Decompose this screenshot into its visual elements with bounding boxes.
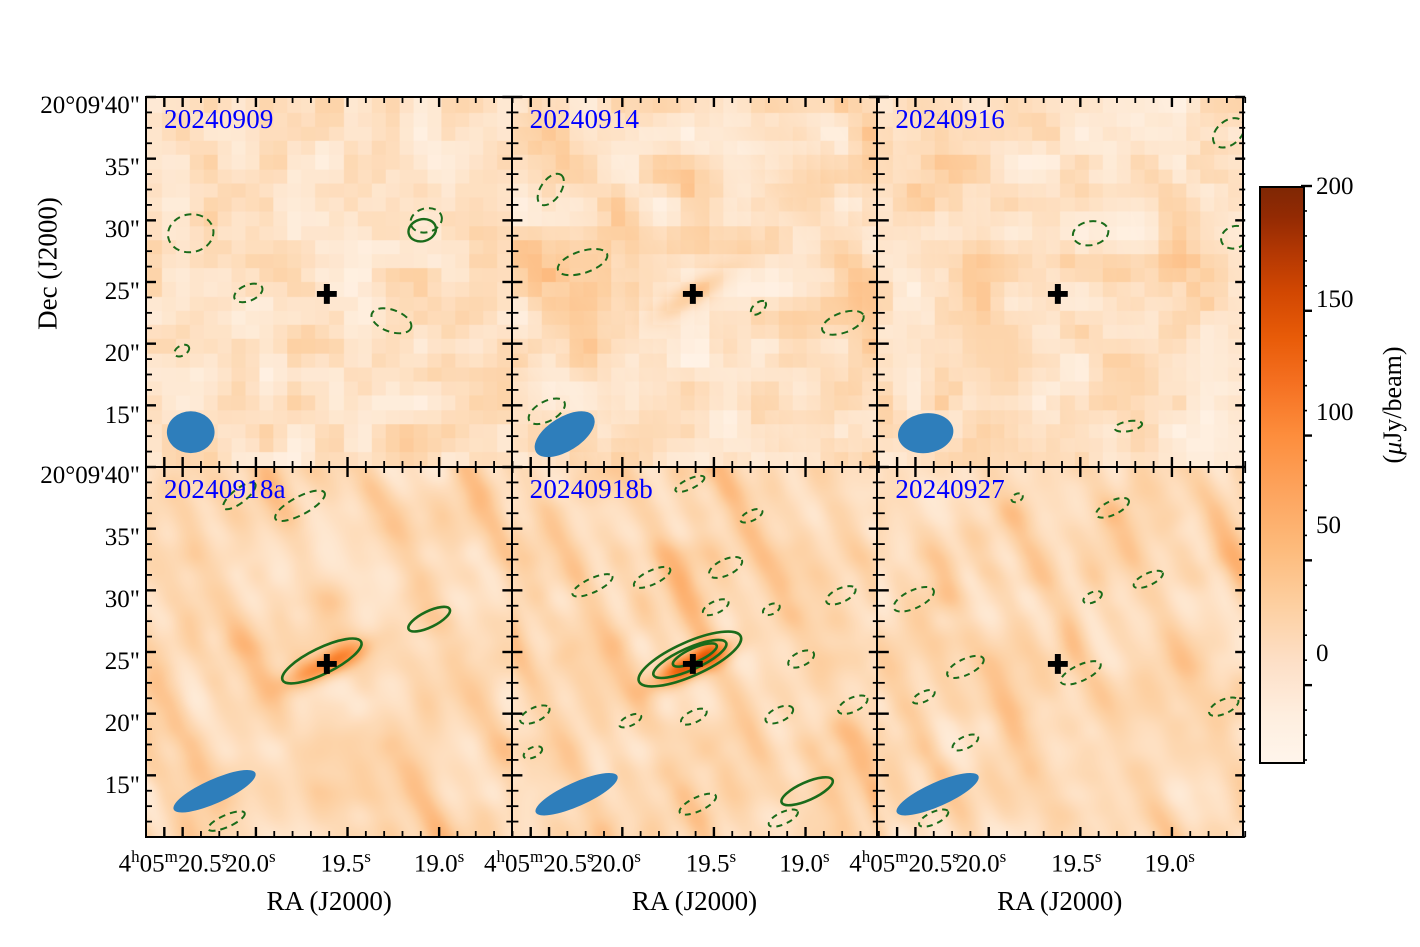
- colorbar-tick-0: 0: [1316, 641, 1329, 666]
- dec-tick-label-r1-1: 35": [0, 525, 140, 550]
- x-axis-title-c1: RA (J2000): [545, 888, 845, 915]
- source-marker: [683, 284, 703, 304]
- panel-20240909[interactable]: 20240909: [145, 96, 513, 468]
- panel-20240918a[interactable]: 20240918a: [145, 466, 513, 838]
- dec-tick-label-r1-4: 20": [0, 711, 140, 736]
- dec-tick-label-r0-2: 30": [0, 217, 140, 242]
- beam-ellipse: [167, 411, 215, 453]
- colorbar[interactable]: [1259, 186, 1305, 764]
- panel-title: 20240918a: [164, 476, 286, 503]
- panel-20240916[interactable]: 20240916: [876, 96, 1244, 468]
- beam-ellipse: [169, 762, 260, 820]
- x-axis-title-c2: RA (J2000): [910, 888, 1210, 915]
- ra-hour-superscript: h: [496, 847, 505, 866]
- ra-hour-superscript: h: [862, 847, 871, 866]
- colorbar-tick-150: 150: [1316, 287, 1354, 312]
- panel-20240918b[interactable]: 20240918b: [511, 466, 879, 838]
- source-marker: [317, 654, 337, 674]
- source-marker: [317, 284, 337, 304]
- colorbar-tick-200: 200: [1316, 174, 1354, 199]
- panel-20240927[interactable]: 20240927: [876, 466, 1244, 838]
- panel-title: 20240909: [164, 106, 274, 133]
- panel-20240914[interactable]: 20240914: [511, 96, 879, 468]
- detection-contour: [277, 602, 453, 692]
- overlay-contours: [513, 98, 877, 466]
- dec-tick-label-r0-0: 20°09'40": [0, 93, 140, 118]
- detection-contour: [632, 621, 836, 811]
- panel-grid: 20240909 20240914: [146, 97, 1243, 837]
- dec-tick-label-r0-5: 15": [0, 403, 140, 428]
- beam-ellipse: [896, 410, 957, 457]
- panel-title: 20240916: [895, 106, 1005, 133]
- dec-tick-label-r0-4: 20": [0, 341, 140, 366]
- colorbar-unit-mu: μ: [1378, 442, 1407, 455]
- overlay-contours: [878, 468, 1242, 836]
- dec-tick-label-r1-2: 30": [0, 587, 140, 612]
- panel-title: 20240927: [895, 476, 1005, 503]
- dec-tick-label-r1-5: 15": [0, 773, 140, 798]
- overlay-contours: [513, 468, 877, 836]
- dec-tick-label-r1-0: 20°09'40": [0, 463, 140, 488]
- source-marker: [1048, 284, 1068, 304]
- y-axis-title: Dec (J2000): [35, 144, 62, 384]
- colorbar-title: (μJy/beam): [1378, 295, 1408, 515]
- ra-second-superscript: s: [1188, 847, 1195, 866]
- overlay-contours: [147, 468, 511, 836]
- beam-ellipse: [527, 402, 602, 467]
- colorbar-tick-50: 50: [1316, 513, 1341, 538]
- overlay-contours: [878, 98, 1242, 466]
- source-marker: [1048, 654, 1068, 674]
- source-marker: [683, 654, 703, 674]
- x-axis-title-c0: RA (J2000): [179, 888, 479, 915]
- overlay-contours: [147, 98, 511, 466]
- dec-tick-label-r0-3: 25": [0, 279, 140, 304]
- dec-tick-label-r0-1: 35": [0, 155, 140, 180]
- panel-title: 20240918b: [530, 476, 653, 503]
- ra-tick-label-c2-3: 19.0s: [1080, 848, 1260, 876]
- figure-root: 20240909 20240914: [0, 0, 1420, 947]
- panel-title: 20240914: [530, 106, 640, 133]
- colorbar-tick-100: 100: [1316, 400, 1354, 425]
- dec-tick-label-r1-3: 25": [0, 649, 140, 674]
- ra-hour-superscript: h: [131, 847, 140, 866]
- beam-ellipse: [892, 765, 983, 823]
- beam-ellipse: [531, 765, 622, 823]
